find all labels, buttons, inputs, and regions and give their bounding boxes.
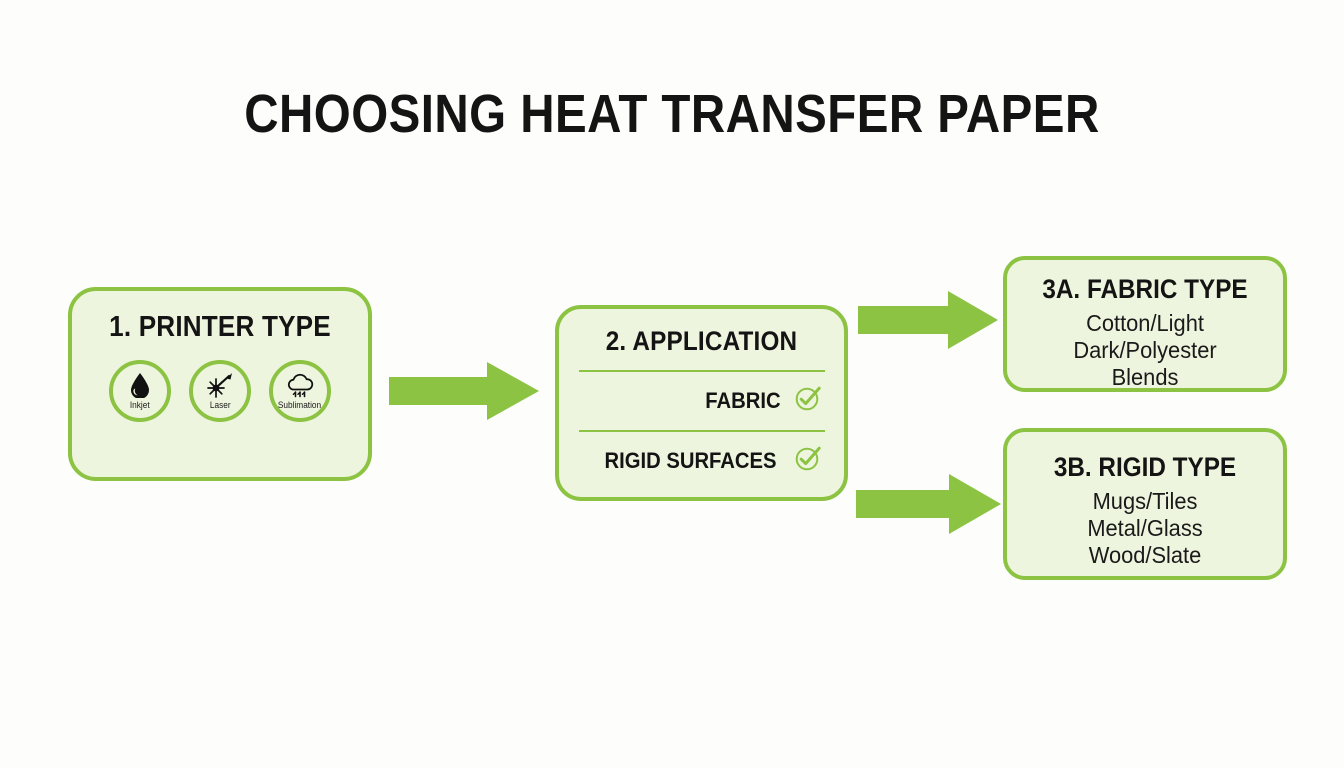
step-3a-line-2: Dark/Polyester — [1014, 337, 1276, 364]
step-2-application-card: 2. APPLICATION FABRIC RIGID SURFACES — [555, 305, 848, 501]
step-1-printer-type-card: 1. PRINTER TYPE Inkjet — [68, 287, 372, 481]
application-row-fabric-label: FABRIC — [705, 388, 780, 414]
divider-top — [579, 370, 825, 372]
step-3b-line-3: Wood/Slate — [1014, 542, 1276, 569]
printer-option-laser[interactable]: Laser — [189, 360, 251, 422]
step-3a-fabric-type-card: 3A. FABRIC TYPE Cotton/Light Dark/Polyes… — [1003, 256, 1287, 392]
ink-droplet-icon — [129, 372, 151, 398]
step-3a-line-1: Cotton/Light — [1014, 310, 1276, 337]
divider-bottom — [579, 430, 825, 432]
diagram-canvas: CHOOSING HEAT TRANSFER PAPER 1. PRINTER … — [0, 0, 1344, 768]
steam-cloud-icon — [285, 372, 315, 398]
printer-option-sublimation-label: Sublimation — [278, 400, 321, 410]
printer-type-options: Inkjet — [72, 360, 368, 422]
check-circle-icon — [794, 384, 822, 417]
step-3a-line-3: Blends — [1014, 364, 1276, 391]
step-1-title: 1. PRINTER TYPE — [87, 311, 353, 344]
page-title: CHOOSING HEAT TRANSFER PAPER — [81, 86, 1264, 143]
step-3a-lines: Cotton/Light Dark/Polyester Blends — [1007, 310, 1283, 391]
printer-option-sublimation[interactable]: Sublimation — [269, 360, 331, 422]
arrow-application-to-rigid — [856, 472, 1001, 536]
application-row-fabric[interactable]: FABRIC — [559, 384, 844, 417]
printer-option-inkjet[interactable]: Inkjet — [109, 360, 171, 422]
step-3a-title: 3A. FABRIC TYPE — [1021, 274, 1269, 305]
step-3b-rigid-type-card: 3B. RIGID TYPE Mugs/Tiles Metal/Glass Wo… — [1003, 428, 1287, 580]
step-3b-line-2: Metal/Glass — [1014, 515, 1276, 542]
step-3b-title: 3B. RIGID TYPE — [1021, 452, 1269, 483]
step-2-title: 2. APPLICATION — [573, 326, 830, 357]
arrow-application-to-fabric — [858, 289, 998, 351]
arrow-printer-to-application — [389, 360, 539, 422]
step-3b-line-1: Mugs/Tiles — [1014, 488, 1276, 515]
step-3b-lines: Mugs/Tiles Metal/Glass Wood/Slate — [1007, 488, 1283, 569]
check-circle-icon — [794, 444, 822, 477]
printer-option-laser-label: Laser — [210, 400, 231, 410]
application-row-rigid-surfaces[interactable]: RIGID SURFACES — [559, 444, 844, 477]
application-row-rigid-surfaces-label: RIGID SURFACES — [604, 448, 776, 474]
laser-beam-icon — [207, 372, 233, 398]
printer-option-inkjet-label: Inkjet — [130, 400, 150, 410]
